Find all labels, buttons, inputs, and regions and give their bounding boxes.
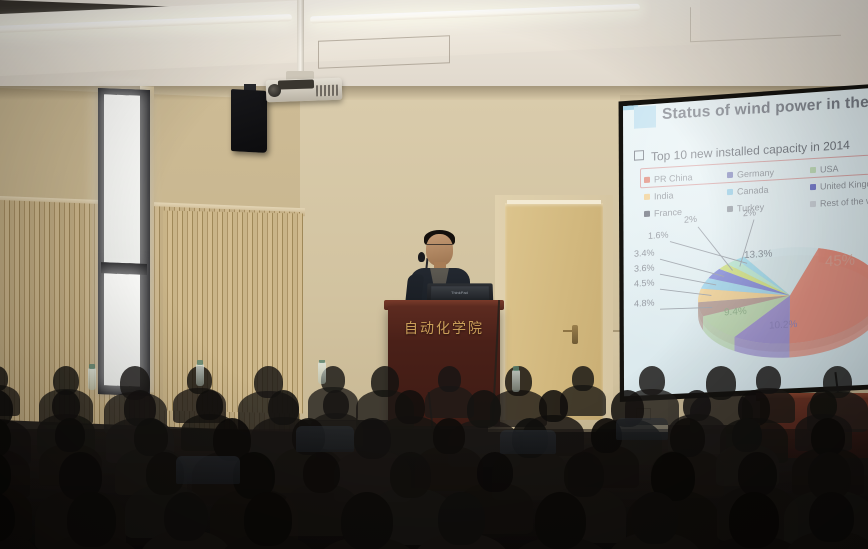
lecture-hall-photo: Status of wind power in the wor Top 10 n… [0,0,868,549]
projector-lens-icon [268,84,281,97]
audience-member-head [438,492,485,545]
audience-member-head [244,492,292,546]
audience-member-head [395,390,425,424]
legend-item-canada: Canada [727,182,810,197]
audience-member-head [134,418,168,456]
legend-swatch-icon [727,188,733,194]
legend-swatch-icon [810,166,816,172]
legend-swatch-icon [810,183,816,189]
audience-member-head [390,452,431,498]
audience-member-head [809,492,854,542]
legend-label: United Kingd [820,178,868,191]
pie-label: 3.6% [634,262,655,273]
audience-member-head [438,366,461,392]
legend-swatch-icon [644,176,650,182]
pie-label: 2% [743,207,756,218]
pie-label: 4.5% [634,277,655,288]
audience-member-head [683,390,711,421]
water-bottle-cap [513,366,519,371]
water-bottle [196,364,204,386]
legend-label: USA [820,163,839,174]
audience-member-head [341,492,393,549]
door-handle[interactable] [572,325,578,344]
audience-member-head [323,390,349,419]
checkbox-bullet-icon [634,150,644,161]
water-bottle [512,370,520,392]
projector-body-top [278,79,314,89]
audience-member-head [268,390,299,425]
audience-member-head [467,390,501,428]
ceiling-tile [318,35,450,69]
audience-member-head [810,390,837,420]
auditorium-seat [616,418,668,440]
audience-member-head [52,390,80,421]
water-bottle [318,362,326,384]
audience-member-head [738,452,777,496]
legend-item-germany: Germany [727,165,810,180]
legend-swatch-icon [644,193,650,199]
slide-title-marker [634,105,656,128]
pie-label: 9.4% [724,306,747,318]
water-bottle-cap [89,364,95,369]
audience-member-head [477,452,513,492]
audience-member-head [572,366,594,391]
projector-pole [297,0,304,74]
ceiling-tile [690,1,841,43]
projector-vent [316,85,338,97]
glasses-icon [427,244,452,250]
legend-swatch-icon [727,171,733,177]
audience-member-head [433,418,465,454]
audience-member-head [55,418,85,452]
audience [0,360,868,549]
audience-member-head [371,366,399,397]
legend-label: PR China [654,172,693,184]
audience-member-head [196,390,223,420]
audience-member-head [67,492,116,547]
pie-label: 10.2% [769,319,797,332]
screen-surface: Status of wind power in the wor Top 10 n… [612,84,868,402]
door-top-light [507,200,601,204]
window [98,88,150,396]
water-bottle-cap [197,360,203,365]
laptop-brand-label: ThinkPad [451,290,468,295]
audience-member-head [811,418,845,456]
audience-member-head [706,366,736,400]
audience-member-head [729,492,779,548]
legend-item-united-kingdom: United Kingd [810,177,868,192]
projection-screen: Status of wind power in the wor Top 10 n… [612,84,868,404]
audience-member-head [539,390,568,422]
legend-label: Canada [737,184,769,196]
auditorium-seat [500,430,556,454]
pie-label: 4.8% [634,297,655,308]
audience-member-head [732,418,762,452]
audience-member-head [354,418,391,459]
slide: Status of wind power in the wor Top 10 n… [612,84,868,402]
legend-label: India [654,190,674,201]
legend-item-usa: USA [810,160,868,175]
legend-label: Germany [737,167,774,179]
legend-item-india: India [644,187,727,202]
audience-member-head [535,492,586,549]
audience-member-head [632,492,678,544]
pie-label: 2% [684,214,697,225]
pie-label: 1.6% [648,230,669,241]
legend-item-pr-china: PR China [644,170,727,185]
pie-label: 13.3% [744,248,772,261]
water-bottle-cap [319,360,325,363]
window-pane [104,94,140,263]
audience-member-head [564,452,604,497]
audience-member-head [639,366,665,395]
auditorium-seat [296,426,354,452]
pie-label: 45% [825,252,855,271]
door-latch [563,330,573,332]
audience-member-head [164,492,208,541]
auditorium-seat [176,456,240,484]
audience-member-head [303,452,340,493]
pie-label: 3.4% [634,247,655,258]
wall-speaker-icon [231,89,267,153]
podium-sign-label: 自动化学院 [396,318,492,338]
audience-member-head [756,366,781,394]
water-bottle [88,368,96,390]
